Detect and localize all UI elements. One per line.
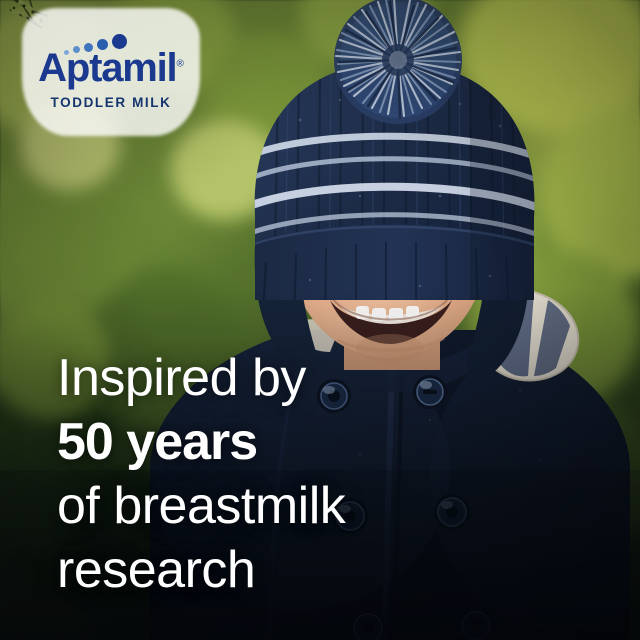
headline-block: Inspired by 50 years of breastmilk resea…: [57, 346, 577, 602]
headline-line-2: 50 years: [57, 410, 577, 474]
logo-brand-name: Aptamil: [38, 46, 176, 90]
headline-line-4: research: [57, 538, 577, 602]
logo-product-line: TODDLER MILK: [51, 96, 172, 110]
registered-trademark-icon: ®: [176, 59, 183, 70]
headline-line-3: of breastmilk: [57, 474, 577, 538]
headline-line-1: Inspired by: [57, 346, 577, 410]
aptamil-logo[interactable]: Aptamil® TODDLER MILK: [22, 8, 200, 136]
logo-wordmark: Aptamil®: [38, 48, 184, 88]
advertisement-canvas: Aptamil® TODDLER MILK Inspired by 50 yea…: [0, 0, 640, 640]
